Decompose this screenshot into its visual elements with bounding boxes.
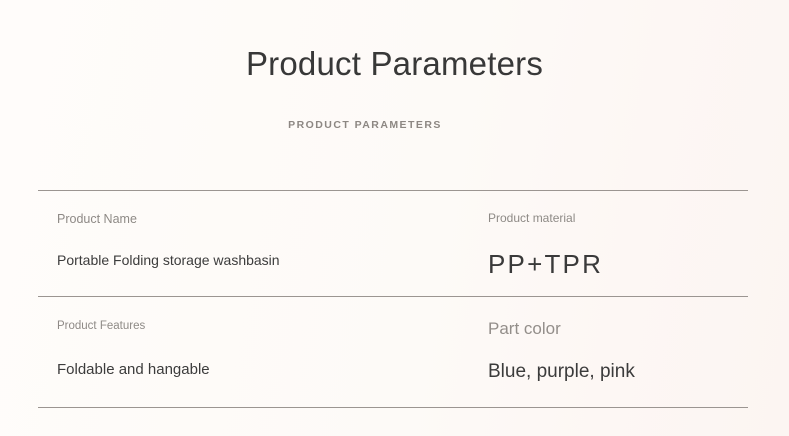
page-subtitle: PRODUCT PARAMETERS bbox=[0, 117, 730, 133]
spec-value: Foldable and hangable bbox=[57, 360, 210, 380]
product-parameters-page: Product Parameters PRODUCT PARAMETERS Pr… bbox=[0, 0, 789, 436]
page-title: Product Parameters bbox=[0, 44, 789, 84]
spec-label: Part color bbox=[488, 318, 561, 340]
spec-value: PP+TPR bbox=[488, 248, 603, 280]
spec-value: Portable Folding storage washbasin bbox=[57, 251, 280, 269]
table-row: Product Name Portable Folding storage wa… bbox=[38, 191, 748, 296]
spec-label: Product Name bbox=[57, 211, 137, 227]
table-divider-bottom bbox=[38, 407, 748, 408]
spec-cell-product-material: Product material PP+TPR bbox=[487, 191, 748, 296]
spec-cell-product-features: Product Features Foldable and hangable bbox=[38, 297, 487, 407]
spec-label: Product material bbox=[488, 210, 575, 226]
spec-cell-part-color: Part color Blue, purple, pink bbox=[487, 297, 748, 407]
spec-cell-product-name: Product Name Portable Folding storage wa… bbox=[38, 191, 487, 296]
spec-label: Product Features bbox=[57, 319, 145, 334]
spec-value: Blue, purple, pink bbox=[488, 359, 635, 384]
table-row: Product Features Foldable and hangable P… bbox=[38, 297, 748, 407]
specification-table: Product Name Portable Folding storage wa… bbox=[38, 190, 748, 408]
